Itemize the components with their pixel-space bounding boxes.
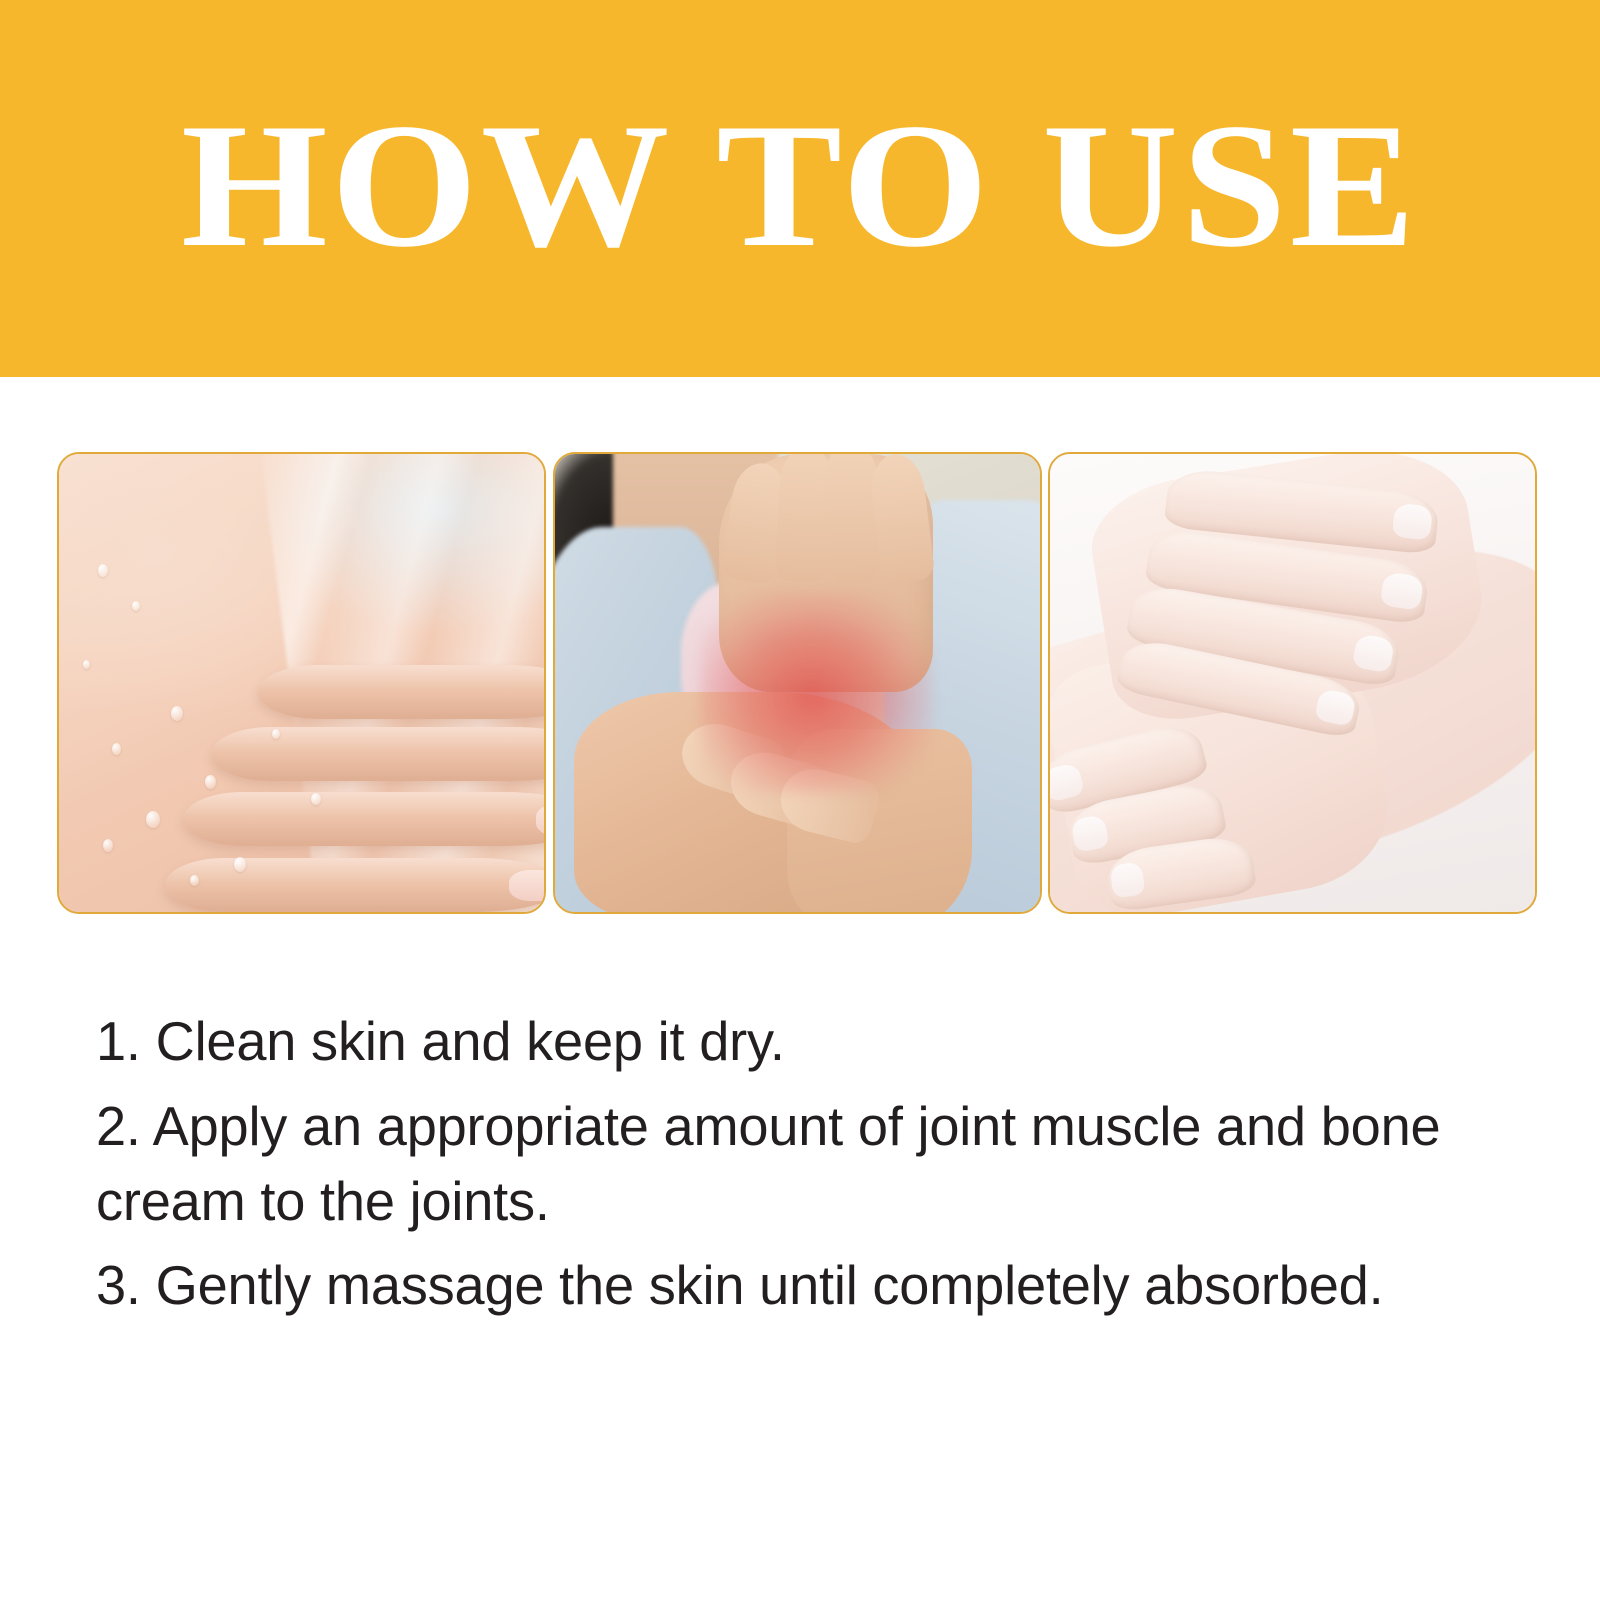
instruction-step-3: 3. Gently massage the skin until complet…: [96, 1248, 1475, 1323]
instruction-step-1: 1. Clean skin and keep it dry.: [96, 1004, 1475, 1079]
pain-highlight: [700, 591, 933, 793]
page-title: HOW TO USE: [181, 96, 1419, 274]
photo-strip: [57, 452, 1537, 914]
hand-fingers-group: [137, 665, 544, 912]
fingernail: [1314, 688, 1356, 727]
fingernail: [1071, 814, 1111, 853]
finger-3: [183, 792, 544, 846]
clean-skin-photo: [57, 452, 546, 914]
finger-2: [211, 727, 544, 781]
massage-hands-photo-image: [1050, 454, 1535, 912]
fingernail: [1109, 862, 1145, 899]
fingernail: [509, 870, 544, 901]
wrist-pain-photo: [553, 452, 1042, 914]
fingernail: [1050, 762, 1085, 803]
how-to-use-infographic: HOW TO USE: [0, 0, 1600, 1600]
fingernail: [536, 804, 544, 835]
clean-skin-photo-image: [59, 454, 544, 912]
finger-4: [165, 858, 544, 912]
fingernail: [1351, 633, 1394, 674]
wrist-pain-photo-image: [555, 454, 1040, 912]
fingernail: [1392, 503, 1433, 541]
instruction-step-2: 2. Apply an appropriate amount of joint …: [96, 1089, 1475, 1239]
massage-hands-photo: [1048, 452, 1537, 914]
finger-1: [258, 665, 544, 719]
instructions-list: 1. Clean skin and keep it dry. 2. Apply …: [96, 1004, 1496, 1333]
fingernail: [1380, 571, 1424, 611]
header-band: HOW TO USE: [0, 0, 1600, 377]
